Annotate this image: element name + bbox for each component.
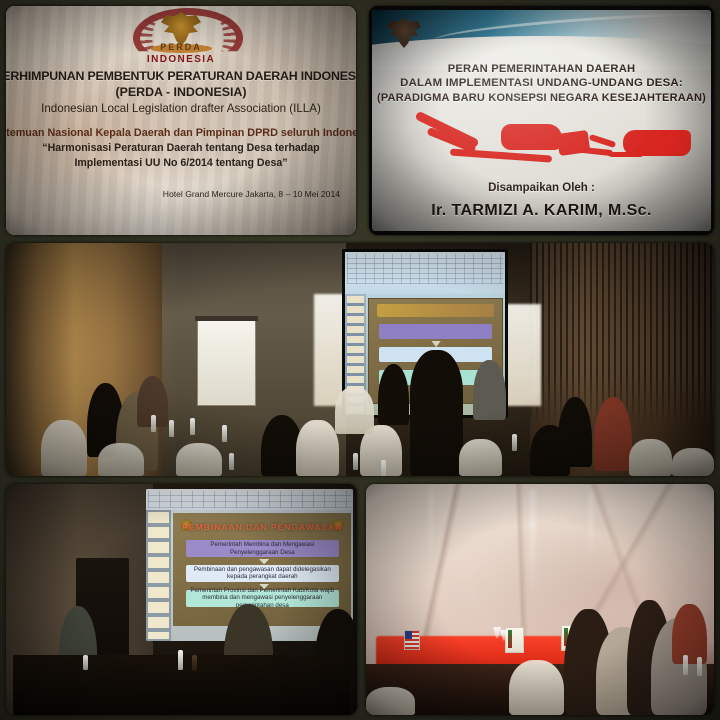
- water-bottle: [683, 655, 688, 675]
- banquet-chair: [509, 660, 565, 715]
- banquet-chair: [459, 439, 501, 476]
- powerpoint-ribbon: [345, 252, 504, 294]
- slide-arrow-1-icon: [259, 559, 270, 565]
- slide-box-3: Pemerintah Provinsi dan Pemerintah Kab/K…: [186, 590, 339, 607]
- powerpoint-ribbon: [146, 489, 353, 510]
- water-bottle: [151, 415, 156, 432]
- slide-header-wave: [372, 10, 711, 54]
- slide-presented-by-label: Disampaikan Oleh :: [372, 182, 711, 194]
- person-seated-1: [378, 364, 409, 425]
- water-bottle: [381, 460, 386, 476]
- panel-title-slide: PERAN PEMERINTAHAN DAERAH DALAM IMPLEMEN…: [369, 6, 714, 235]
- water-bottle: [222, 425, 227, 442]
- slide-title-line-3: (PARADIGMA BARU KONSEPSI NEGARA KESEJAHT…: [372, 91, 711, 105]
- participant-5: [672, 604, 707, 664]
- slide-title-line-2: DALAM IMPLEMENTASI UNDANG-UNDANG DESA:: [372, 76, 711, 91]
- panel-conference-banner: PERDA INDONESIA PERHIMPUNAN PEMBENTUK PE…: [6, 6, 356, 235]
- powerpoint-slide-rail: [146, 510, 171, 641]
- banquet-chair: [98, 443, 144, 476]
- slide-presenter-name: Ir. TARMIZI A. KARIM, M.Sc.: [372, 202, 711, 220]
- marble-wall: [366, 484, 714, 715]
- window-left: [314, 294, 346, 406]
- banquet-chair: [296, 420, 338, 476]
- projection-surface: PERAN PEMERINTAHAN DAERAH DALAM IMPLEMEN…: [372, 10, 711, 231]
- photo-collage: PERDA INDONESIA PERHIMPUNAN PEMBENTUK PE…: [0, 0, 720, 720]
- banner-org-line-3: Indonesian Local Legislation drafter Ass…: [41, 102, 321, 115]
- slide-box-1: Pemerintah Membina dan Mengawasi Penyele…: [186, 540, 339, 557]
- window-right: [505, 304, 540, 407]
- banner-venue: Hotel Grand Mercure Jakarta, 8 – 10 Mei …: [163, 189, 340, 199]
- indonesia-map-graphic: [372, 116, 711, 178]
- water-bottle: [178, 650, 183, 670]
- banner-event-line-2: “Harmonisasi Peraturan Daerah tentang De…: [42, 142, 319, 154]
- name-card: [505, 627, 524, 653]
- water-bottle: [697, 657, 702, 676]
- room-scene: [6, 243, 714, 476]
- person-seated-9: [530, 425, 570, 476]
- water-bottle: [169, 420, 174, 437]
- water-bottle: [229, 453, 234, 470]
- slide-title-bar: [377, 304, 495, 318]
- powerpoint-slide-stage: PEMBINAAN DAN PENGAWASAN Pemerintah Memb…: [173, 513, 351, 626]
- banquet-chair: [41, 420, 87, 476]
- slide-box-1: [379, 324, 491, 340]
- panel-panelists: PEMBINAAN DAN PENGAWASAN Pemerintah Memb…: [6, 484, 357, 715]
- water-bottle: [190, 418, 195, 435]
- flag-icon: [404, 630, 420, 650]
- logo-wordmark: PERDA: [160, 42, 202, 52]
- person-standing-center: [410, 350, 463, 476]
- slide-box-2: Pembinaan dan pengawasan dapat didelegas…: [186, 565, 339, 582]
- banquet-chair: [335, 387, 374, 434]
- perda-logo: PERDA INDONESIA: [133, 6, 229, 64]
- water-bottle: [512, 434, 517, 451]
- banner-event-line-3: Implementasi UU No 6/2014 tentang Desa”: [74, 157, 287, 169]
- panel-audience: [366, 484, 714, 715]
- flipchart-easel: [197, 320, 256, 406]
- drinking-glass: [192, 655, 197, 671]
- banquet-chair: [672, 448, 714, 476]
- slide-title-line-1: PERAN PEMERINTAHAN DAERAH: [372, 62, 711, 76]
- banner-org-line-2: (PERDA - INDONESIA): [115, 85, 246, 99]
- person-seated-2: [473, 360, 506, 421]
- drinking-glass: [83, 655, 88, 670]
- slide-title: PEMBINAAN DAN PENGAWASAN: [180, 520, 344, 534]
- water-bottle: [353, 453, 358, 470]
- banner-event-line-1: Pertemuan Nasional Kepala Daerah dan Pim…: [6, 127, 356, 139]
- logo-subwordmark: INDONESIA: [147, 54, 215, 65]
- panelists-scene: PEMBINAAN DAN PENGAWASAN Pemerintah Memb…: [6, 484, 357, 715]
- person-seated-8: [594, 397, 632, 472]
- panel-conference-room: [6, 243, 714, 476]
- banner-org-line-1: PERHIMPUNAN PEMBENTUK PERATURAN DAERAH I…: [6, 69, 356, 83]
- banquet-chair: [366, 687, 415, 715]
- banquet-chair: [176, 443, 222, 476]
- slide-title-block: PERAN PEMERINTAHAN DAERAH DALAM IMPLEMEN…: [372, 62, 711, 105]
- banquet-chair: [629, 439, 671, 476]
